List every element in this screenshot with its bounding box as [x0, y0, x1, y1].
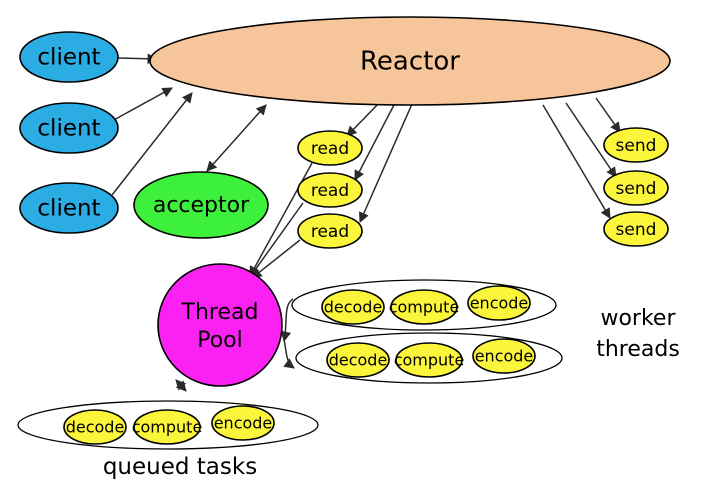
- worker-task-label-1-2: compute: [389, 298, 460, 317]
- worker-threads-caption-line2: threads: [596, 337, 680, 362]
- queued-task-label-1: decode: [66, 418, 125, 437]
- acceptor-label: acceptor: [153, 193, 250, 218]
- read-label-2: read: [311, 181, 349, 201]
- edge-reactor-to-read1: [347, 101, 381, 136]
- thread-pool-label-line1: Thread: [181, 300, 259, 325]
- send-label-3: send: [616, 220, 657, 240]
- worker-task-label-1-1: decode: [324, 298, 383, 317]
- edge-reactor-to-send1: [596, 98, 620, 132]
- edge-client2-to-reactor: [112, 88, 172, 121]
- read-label-1: read: [311, 139, 349, 159]
- worker-task-label-2-1: decode: [329, 351, 388, 370]
- edge-acceptor-reactor: [207, 105, 266, 171]
- thread-pool-node[interactable]: [158, 264, 282, 386]
- edge-threadpool-to-worker2: [281, 330, 294, 368]
- thread-pool-label-line2: Pool: [197, 328, 243, 353]
- read-label-3: read: [311, 222, 349, 242]
- worker-threads-caption-line1: worker: [600, 306, 676, 331]
- queued-task-label-3: encode: [214, 414, 273, 433]
- diagram-canvas: Reactorclientclientclientacceptorreadrea…: [0, 0, 727, 494]
- worker-task-label-2-2: compute: [394, 351, 465, 370]
- queued-tasks-caption: queued tasks: [103, 454, 257, 480]
- shapes-layer: Reactorclientclientclientacceptorreadrea…: [18, 17, 680, 480]
- worker-task-label-1-3: encode: [470, 294, 529, 313]
- reactor-label: Reactor: [360, 47, 460, 77]
- edge-threadpool-queued: [176, 380, 186, 391]
- worker-task-label-2-3: encode: [475, 347, 534, 366]
- client-label-2: client: [37, 116, 100, 142]
- edge-reactor-to-read2: [355, 103, 395, 180]
- client-label-3: client: [37, 196, 100, 222]
- edge-reactor-to-send3: [543, 105, 610, 218]
- diagram-svg: Reactorclientclientclientacceptorreadrea…: [0, 0, 727, 494]
- send-label-2: send: [616, 179, 657, 199]
- client-label-1: client: [37, 45, 100, 71]
- queued-task-label-2: compute: [132, 418, 203, 437]
- send-label-1: send: [616, 136, 657, 156]
